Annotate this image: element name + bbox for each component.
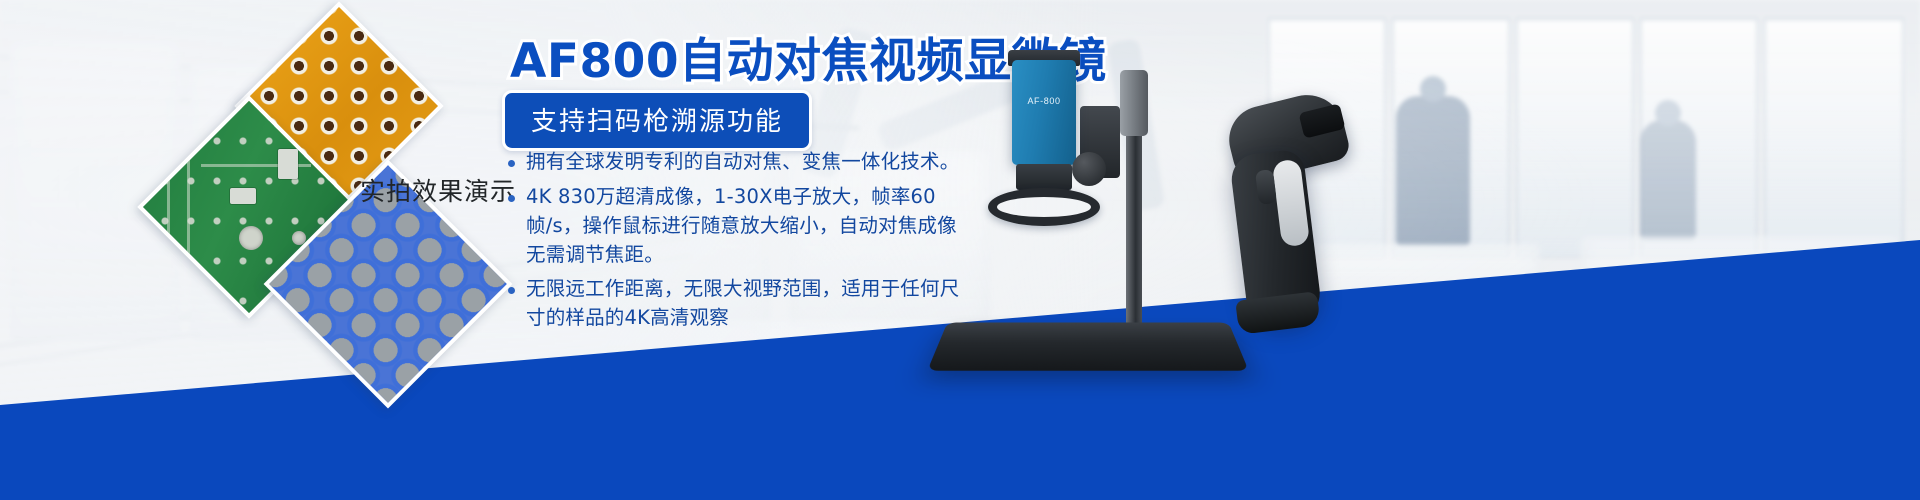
product-banner: 实拍效果演示 AF800自动对焦视频显微镜 支持扫码枪溯源功能 拥有全球发明专利… — [0, 0, 1920, 500]
pcb-capacitor — [239, 226, 263, 250]
feature-list: 拥有全球发明专利的自动对焦、变焦一体化技术。 4K 830万超清成像，1-30X… — [504, 148, 974, 339]
camera-body: AF-800 — [1012, 60, 1076, 165]
list-item: 4K 830万超清成像，1-30X电子放大，帧率60帧/s，操作鼠标进行随意放大… — [504, 183, 974, 270]
list-item: 无限远工作距离，无限大视野范围，适用于任何尺寸的样品的4K高清观察 — [504, 275, 974, 333]
pcb-chip — [230, 188, 256, 204]
camera-model-label: AF-800 — [1012, 96, 1076, 106]
pcb-chip — [278, 149, 298, 179]
focus-knob — [1072, 152, 1106, 186]
microscope-base-plate — [927, 322, 1248, 370]
objective-lens — [1016, 164, 1072, 190]
barcode-scanner-product — [1205, 100, 1355, 330]
ring-light — [988, 188, 1100, 226]
shot-caption: 实拍效果演示 — [360, 172, 516, 208]
status-badge: 支持扫码枪溯源功能 — [502, 90, 812, 151]
list-item: 拥有全球发明专利的自动对焦、变焦一体化技术。 — [504, 148, 974, 177]
microscope-post-head — [1120, 70, 1148, 136]
pcb-trace — [187, 135, 190, 279]
